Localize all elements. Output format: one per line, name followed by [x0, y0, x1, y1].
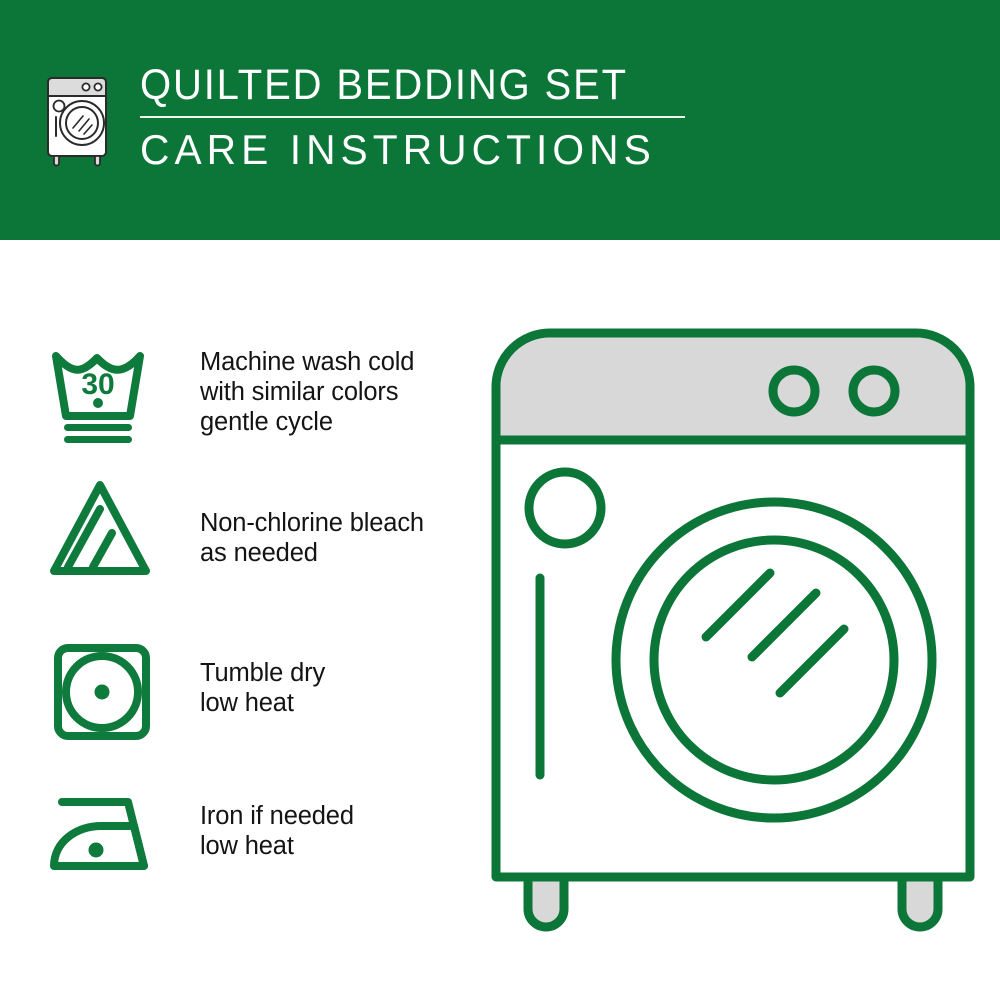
care-item-label: Iron if needed low heat — [200, 780, 354, 862]
care-item-machine-wash: 30 Machine wash cold with similar colors… — [0, 340, 500, 448]
care-item-label: Non-chlorine bleach as needed — [200, 475, 424, 569]
washing-machine-icon — [42, 68, 118, 168]
wash-temperature-label: 30 — [81, 368, 114, 401]
care-item-label: Tumble dry low heat — [200, 638, 325, 719]
door-inner-ring — [654, 540, 894, 780]
header-text-block: QUILTED BEDDING SET CARE INSTRUCTIONS — [140, 64, 700, 171]
care-item-label: Machine wash cold with similar colors ge… — [200, 340, 414, 437]
page-subtitle: CARE INSTRUCTIONS — [140, 129, 683, 171]
care-instructions-infographic: QUILTED BEDDING SET CARE INSTRUCTIONS 30 — [0, 0, 1000, 1000]
knob-left — [773, 370, 815, 412]
detergent-dial — [529, 472, 601, 544]
care-symbol-list: 30 Machine wash cold with similar colors… — [0, 240, 500, 1000]
knob-right — [853, 370, 895, 412]
care-item-tumble-dry: Tumble dry low heat — [0, 638, 500, 746]
title-divider — [140, 116, 685, 118]
header-banner: QUILTED BEDDING SET CARE INSTRUCTIONS — [0, 0, 1000, 240]
bleach-triangle-icon — [48, 475, 158, 583]
leg-right — [902, 877, 938, 927]
wash-tub-30-icon: 30 — [48, 340, 158, 448]
tumble-dry-low-icon — [48, 638, 158, 746]
washing-machine-illustration — [488, 325, 978, 935]
care-item-iron: Iron if needed low heat — [0, 780, 500, 888]
leg-left — [528, 877, 564, 927]
page-title: QUILTED BEDDING SET — [140, 64, 661, 107]
iron-low-heat-icon — [48, 780, 158, 888]
care-item-bleach: Non-chlorine bleach as needed — [0, 475, 500, 583]
